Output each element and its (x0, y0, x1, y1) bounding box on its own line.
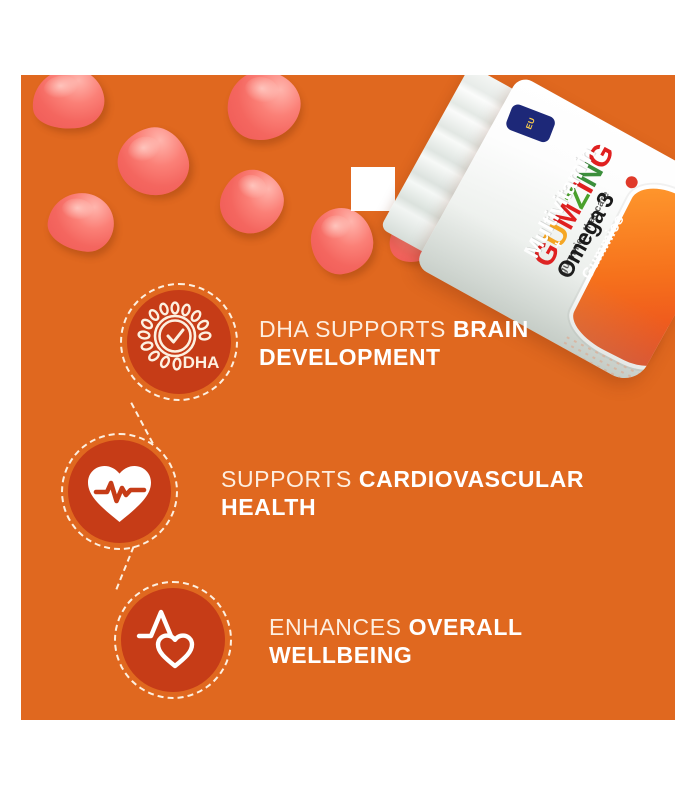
gummy-shape (28, 75, 108, 134)
feature-text-dha-brain: DHA SUPPORTS BRAIN DEVELOPMENT (259, 315, 589, 371)
feature-text-overall-wellbeing: ENHANCES OVERALL WELLBEING (269, 613, 609, 669)
feature-text-light: ENHANCES (269, 614, 409, 640)
svg-text:DHA: DHA (183, 353, 220, 372)
dha-droplet-check-icon: DHA (127, 290, 231, 394)
gummy-shape (212, 161, 292, 242)
eu-badge: EU (504, 102, 557, 144)
orange-panel: EU GUMZING gummies that care Mul (21, 75, 675, 720)
gummy-shape (110, 120, 195, 204)
pulse-heart-outline-icon (121, 588, 225, 692)
product-bottle: EU GUMZING gummies that care Mul (391, 75, 675, 325)
product-benefits-page: EU GUMZING gummies that care Mul (0, 0, 700, 800)
feature-text-cardiovascular: SUPPORTS CARDIOVASCULAR HEALTH (221, 465, 621, 521)
gummy-shape (222, 75, 307, 148)
eu-badge-label: EU (524, 116, 537, 131)
heart-pulse-icon (68, 440, 171, 543)
feature-text-light: SUPPORTS (221, 466, 359, 492)
sparkle-icon (351, 167, 395, 211)
feature-text-light: DHA SUPPORTS (259, 316, 453, 342)
connector-line (115, 546, 134, 589)
gummy-shape (45, 190, 117, 255)
berry-icon (651, 354, 675, 380)
